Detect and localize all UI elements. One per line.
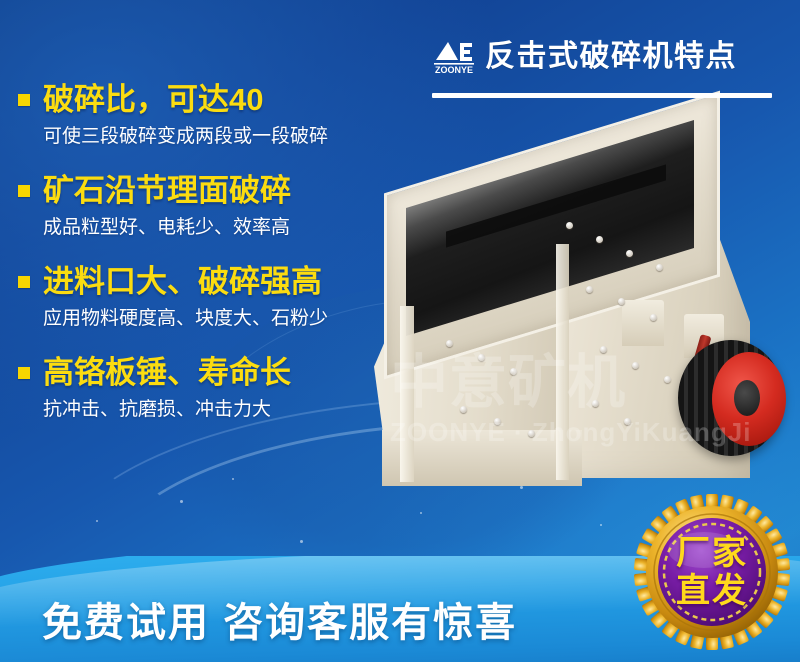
feature-title: 高铬板锤、寿命长 [43, 351, 291, 395]
machine-bolt [478, 354, 485, 361]
machine-bolt [650, 314, 657, 321]
machine-bolt [494, 418, 501, 425]
speck [420, 512, 422, 514]
feature-subtitle: 抗冲击、抗磨损、冲击力大 [43, 395, 418, 425]
speck [300, 540, 303, 543]
machine-bolt [632, 362, 639, 369]
machine-bolt [596, 236, 603, 243]
feature-item: 矿石沿节理面破碎 成品粒型好、电耗少、效率高 [18, 169, 418, 243]
seal-label: 厂家 直发 [634, 494, 790, 650]
svg-text:ZOONYE: ZOONYE [435, 65, 473, 75]
header-underline [432, 93, 772, 98]
machine-bolt [624, 418, 631, 425]
bullet-square-icon [18, 276, 30, 288]
machine-bolt [586, 286, 593, 293]
feature-subtitle: 应用物料硬度高、块度大、石粉少 [43, 304, 418, 334]
seal-line-1: 厂家 [676, 534, 748, 572]
feature-heading: 高铬板锤、寿命长 [18, 351, 418, 395]
feature-heading: 破碎比，可达40 [18, 78, 418, 122]
feature-heading: 矿石沿节理面破碎 [18, 169, 418, 213]
machine-bolt [566, 222, 573, 229]
feature-list: 破碎比，可达40 可使三段破碎变成两段或一段破碎 矿石沿节理面破碎 成品粒型好、… [18, 78, 418, 442]
machine-pulley-hub [734, 380, 760, 416]
crusher-machine-image [360, 118, 800, 490]
page-title: 反击式破碎机特点 [485, 37, 737, 77]
feature-subtitle: 可使三段破碎变成两段或一段破碎 [43, 122, 418, 152]
feature-title: 破碎比，可达40 [43, 78, 263, 122]
zoonye-logo-icon: ZOONYE [432, 38, 476, 76]
machine-bolt [656, 264, 663, 271]
header-row: ZOONYE 反击式破碎机特点 [432, 34, 778, 80]
machine-bolt [664, 376, 671, 383]
machine-bolt [592, 400, 599, 407]
machine-bolt [460, 406, 467, 413]
machine-bolt [446, 340, 453, 347]
feature-heading: 进料口大、破碎强高 [18, 260, 418, 304]
header: ZOONYE 反击式破碎机特点 [432, 34, 778, 96]
machine-bolt [618, 298, 625, 305]
feature-title: 进料口大、破碎强高 [43, 260, 322, 304]
bullet-square-icon [18, 94, 30, 106]
machine-bolt [510, 368, 517, 375]
poster-root: 中意矿机 ZOONYE · ZhongYiKuangJi ZOONYE 反击式破… [0, 0, 800, 662]
bullet-square-icon [18, 367, 30, 379]
machine-bracket-a [622, 300, 664, 346]
feature-item: 破碎比，可达40 可使三段破碎变成两段或一段破碎 [18, 78, 418, 152]
speck [180, 500, 183, 503]
bullet-square-icon [18, 185, 30, 197]
feature-title: 矿石沿节理面破碎 [43, 169, 291, 213]
feature-subtitle: 成品粒型好、电耗少、效率高 [43, 213, 418, 243]
machine-bolt [626, 250, 633, 257]
speck [600, 524, 602, 526]
factory-direct-seal-badge[interactable]: 厂家 直发 [634, 494, 790, 650]
seal-line-2: 直发 [676, 572, 748, 610]
machine-bolt [600, 346, 607, 353]
machine-bolt [528, 430, 535, 437]
machine-rib-right [556, 244, 569, 480]
speck [96, 520, 98, 522]
feature-item: 高铬板锤、寿命长 抗冲击、抗磨损、冲击力大 [18, 351, 418, 425]
feature-item: 进料口大、破碎强高 应用物料硬度高、块度大、石粉少 [18, 260, 418, 334]
speck [232, 478, 234, 480]
cta-banner-text: 免费试用 咨询客服有惊喜 [42, 590, 517, 648]
